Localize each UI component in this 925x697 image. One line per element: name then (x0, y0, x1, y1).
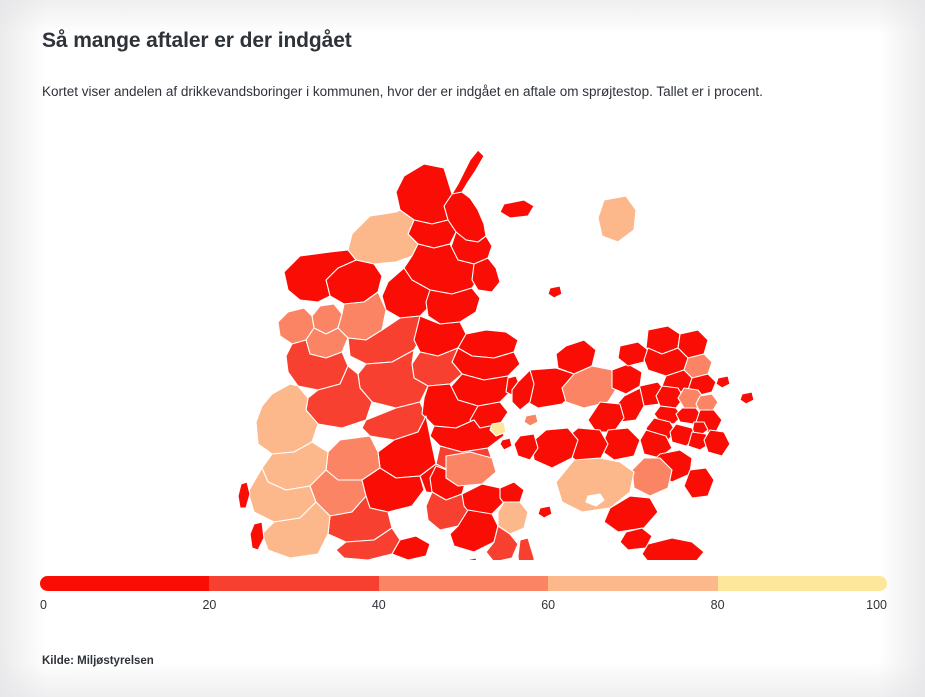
region-halsnaes[interactable] (618, 342, 648, 366)
source-caption: Kilde: Miljøstyrelsen (42, 655, 154, 667)
legend-tick-20: 20 (202, 598, 216, 612)
legend-tick-0: 0 (40, 598, 47, 612)
region-laesoe[interactable] (598, 196, 636, 242)
region-islet-c[interactable] (716, 376, 730, 388)
region-jammerbugt[interactable] (348, 210, 418, 264)
denmark-map-svg (0, 140, 925, 560)
region-moen[interactable] (642, 538, 704, 560)
region-islet-small[interactable] (548, 286, 562, 298)
region-islet-e[interactable] (464, 558, 478, 560)
region-taarnby[interactable] (704, 430, 730, 456)
region-faxe[interactable] (632, 458, 672, 496)
region-anholt[interactable] (500, 200, 534, 218)
region-islet-d[interactable] (524, 414, 538, 426)
region-lejre[interactable] (588, 402, 624, 432)
region-islet-a[interactable] (500, 438, 512, 450)
legend-band-20-40 (209, 576, 378, 591)
region-amager-islet[interactable] (740, 392, 754, 404)
legend-tick-60: 60 (541, 598, 555, 612)
page-title: Så mange aftaler er der indgået (42, 29, 352, 53)
legend-tick-100: 100 (866, 598, 887, 612)
region-mariagerfjord[interactable] (426, 288, 480, 324)
legend-band-40-60 (379, 576, 548, 591)
region-stevns[interactable] (684, 468, 714, 498)
legend-band-0-20 (40, 576, 209, 591)
legend-tick-80: 80 (711, 598, 725, 612)
legend-tick-40: 40 (372, 598, 386, 612)
region-slagelse[interactable] (532, 428, 578, 468)
region-nordfyn[interactable] (446, 452, 496, 486)
chart-subtitle: Kortet viser andelen af drikkevandsborin… (42, 82, 854, 102)
region-islet-b[interactable] (538, 506, 552, 518)
region-langeland[interactable] (518, 538, 536, 560)
region-toender-spur[interactable] (250, 522, 264, 550)
region-lyngby-taarbaek[interactable] (696, 394, 718, 412)
region-fanoe[interactable] (238, 482, 250, 508)
legend-band-60-80 (548, 576, 717, 591)
region-skagen[interactable] (452, 150, 484, 198)
choropleth-map (0, 140, 925, 560)
chart-page: Så mange aftaler er der indgået Kortet v… (0, 0, 925, 697)
legend-band-80-100 (718, 576, 887, 591)
legend: 0 20 40 60 80 100 (40, 576, 887, 616)
legend-color-bar (40, 576, 887, 591)
region-aalborg-east[interactable] (472, 258, 500, 292)
legend-tick-labels: 0 20 40 60 80 100 (40, 598, 887, 616)
